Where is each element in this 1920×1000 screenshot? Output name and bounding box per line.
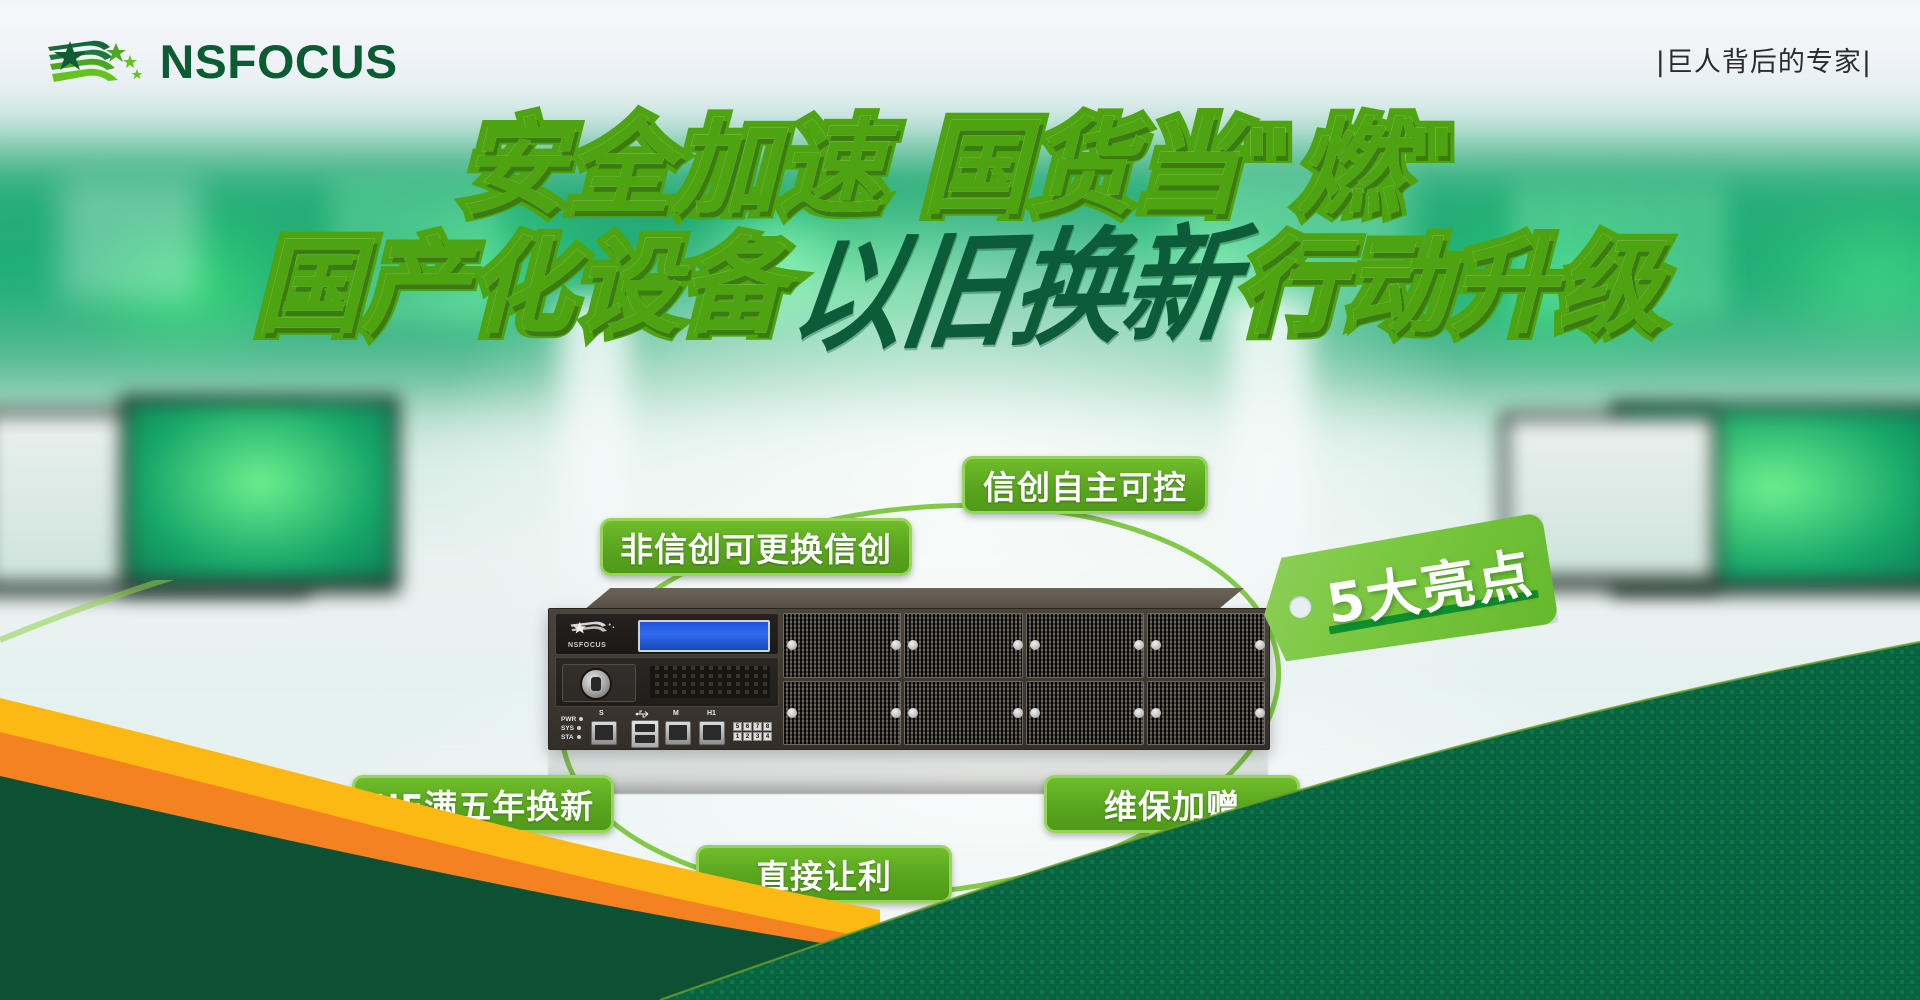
nsfocus-flag-star-logo-icon	[44, 35, 148, 89]
drive-bay	[1026, 613, 1144, 678]
server-brand-text: NSFOCUS	[568, 642, 606, 649]
server-removable-bay	[555, 657, 779, 707]
headline-line-2-suffix: 行动升级 行动升级	[1239, 235, 1663, 339]
headline-line-1-text: 安全加速 国货当"燃" 安全加速 国货当"燃"	[461, 116, 1460, 220]
port-label-console: S	[599, 710, 604, 717]
highlight-pill-label: 信创自主可控	[983, 461, 1187, 509]
headline-line-1: 安全加速 国货当"燃" 安全加速 国货当"燃"	[0, 116, 1920, 221]
led-label-pwr: PWR	[561, 716, 576, 723]
mgmt-port	[665, 721, 691, 745]
drive-bay	[1147, 613, 1265, 678]
port-label-ha: H1	[707, 710, 716, 717]
drive-bay	[783, 681, 901, 746]
drive-bay	[904, 613, 1022, 678]
headline-line-2: 国产化设备 国产化设备 以旧换新 行动升级 行动升级	[0, 235, 1920, 347]
server-io-area: PWR SYS STA S M	[557, 709, 777, 749]
server-front-panel: NSFOCUS PWR SYS STA	[548, 608, 1270, 750]
usb-ports	[631, 720, 659, 748]
highlight-pill-label: 直接让利	[756, 850, 892, 898]
server-top-cover	[584, 588, 1244, 610]
highlight-pill-replace-with-xinchuang[interactable]: 非信创可更换信创	[600, 518, 912, 576]
drive-bay	[1026, 681, 1144, 746]
server-lcd-display	[638, 620, 770, 652]
highlight-pill-label: 维保加赠	[1104, 780, 1240, 828]
port-number-grid: 5678 1234	[733, 722, 772, 741]
highlight-pill-direct-discount[interactable]: 直接让利	[696, 845, 952, 903]
server-brand-panel: NSFOCUS	[555, 613, 779, 655]
drive-bay	[783, 613, 901, 678]
drive-bay	[1147, 681, 1265, 746]
server-logo: NSFOCUS	[566, 619, 628, 649]
highlight-pill-maintenance-bonus[interactable]: 维保加赠	[1044, 775, 1300, 833]
brand-name: NSFOCUS	[160, 34, 398, 89]
banner-canvas: NSFOCUS |巨人背后的专家| 安全加速 国货当"燃" 安全加速 国货当"燃…	[0, 0, 1920, 1000]
server-vent-grille	[650, 666, 770, 698]
server-status-leds: PWR SYS STA	[561, 715, 583, 742]
brand-tagline: |巨人背后的专家|	[1656, 40, 1872, 79]
drive-bay	[904, 681, 1022, 746]
highlight-pill-nf-five-year-renew[interactable]: NF满五年换新	[352, 775, 614, 833]
headline-brush-calligraphy: 以旧换新	[784, 223, 1242, 360]
brand-logo[interactable]: NSFOCUS	[44, 34, 395, 89]
server-key-lock-icon	[580, 668, 612, 700]
headline-line-2-prefix: 国产化设备 国产化设备	[257, 235, 787, 339]
highlight-pill-xinchuang-autonomous[interactable]: 信创自主可控	[962, 456, 1208, 514]
port-label-mgmt: M	[673, 710, 679, 717]
highlight-pill-label: NF满五年换新	[372, 780, 594, 828]
headline-block: 安全加速 国货当"燃" 安全加速 国货当"燃" 国产化设备 国产化设备 以旧换新…	[0, 116, 1920, 347]
console-port	[591, 721, 617, 745]
led-label-sta: STA	[561, 734, 574, 741]
ha-port	[699, 721, 725, 745]
usb-icon	[635, 709, 651, 719]
led-label-sys: SYS	[561, 725, 574, 732]
highlight-pill-label: 非信创可更换信创	[620, 523, 892, 571]
server-drive-bays	[783, 613, 1265, 745]
